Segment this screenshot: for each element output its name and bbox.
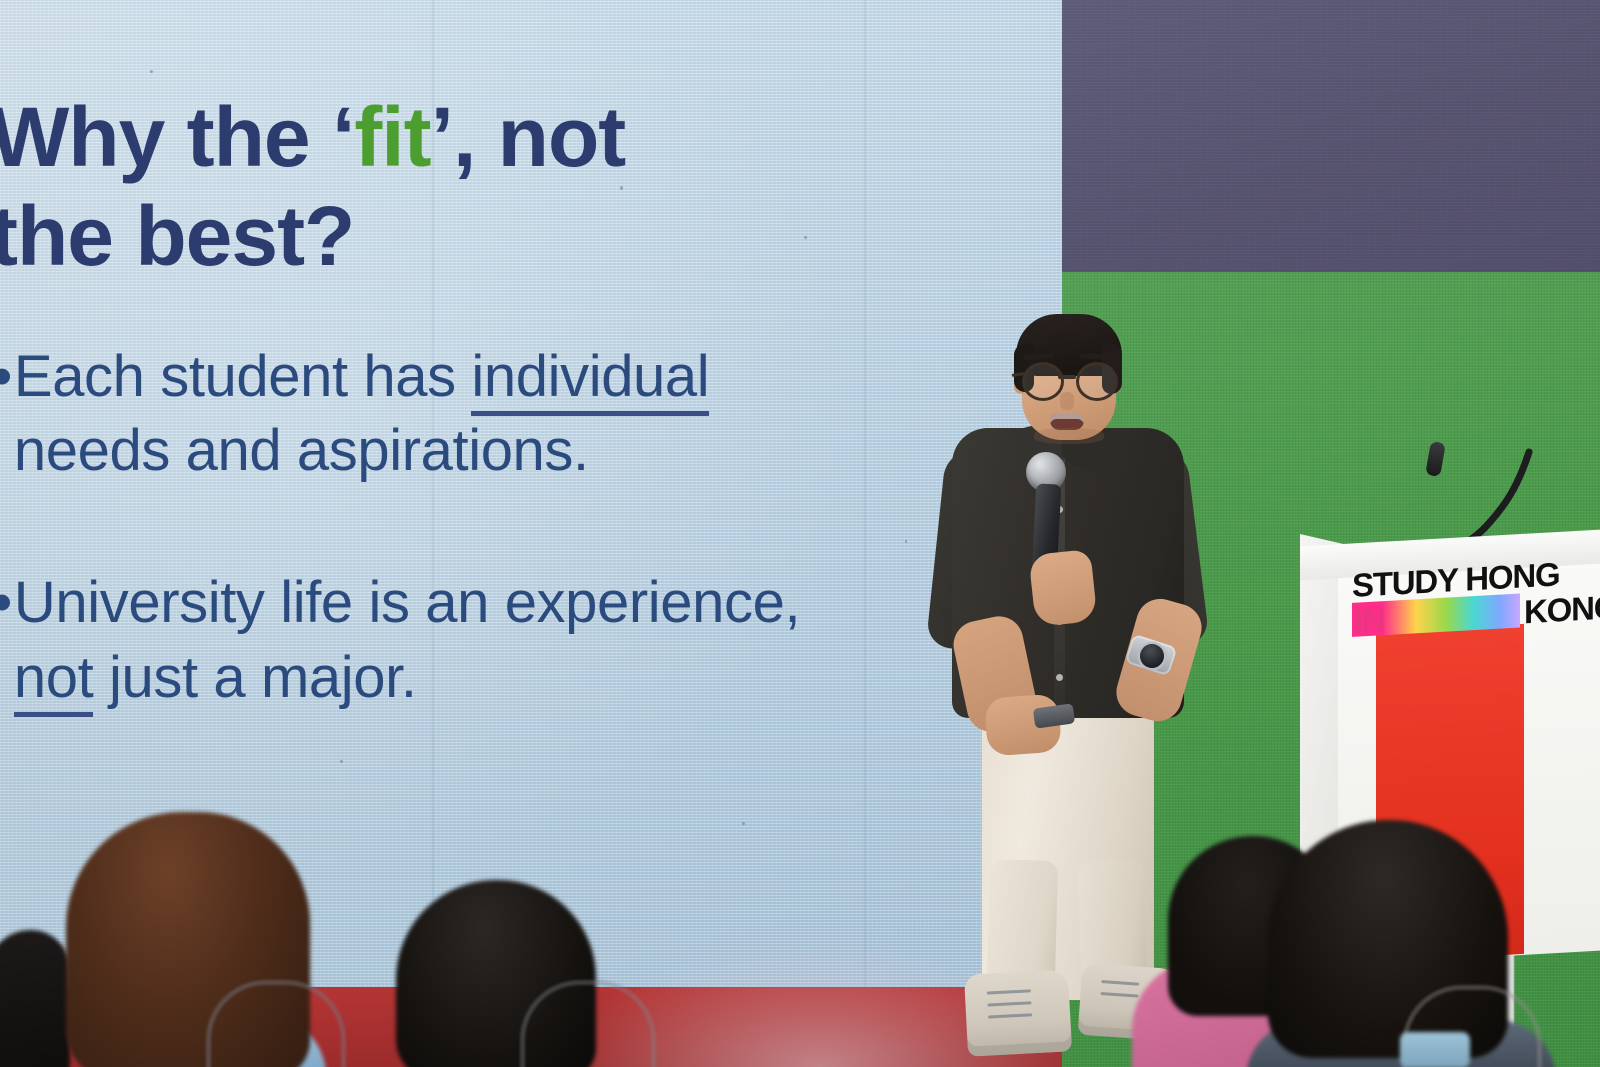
eyeglasses-icon [1018, 362, 1122, 396]
bullet-1-underlined-word: individual [471, 344, 709, 416]
shirt-button [1056, 674, 1063, 681]
shoe-lace [1101, 980, 1139, 986]
bullet-1-second-line: needs and aspirations. [14, 418, 589, 483]
eyeglass-lens-right [1076, 362, 1118, 401]
shoe-lace [1100, 992, 1138, 998]
slide-bullet-item: • University life is an experience, not … [0, 566, 812, 714]
bullet-1-pre: Each student has [14, 344, 472, 409]
bullet-text: University life is an experience, not ju… [14, 566, 812, 714]
slide-title-line-1-post: ’, not [431, 90, 626, 184]
slide-title: Why the ‘fit’, not the best? [0, 88, 690, 286]
slide-title-highlight-word: fit [354, 90, 430, 184]
bullet-2-underlined-word: not [14, 645, 93, 717]
podium-logo-in: IN [1354, 601, 1385, 641]
slide-bullet-item: • Each student has individual needs and … [0, 340, 812, 488]
audience-lanyard [1400, 1032, 1470, 1067]
screen-speck [804, 236, 807, 239]
screen-speck [905, 540, 907, 543]
podium-logo: STUDY HONG IN KONG [1352, 553, 1600, 639]
shoe-lace [988, 1013, 1032, 1018]
bullet-2-second-line-post: just a major. [93, 645, 416, 710]
shoe-lace [987, 989, 1031, 994]
speaker-hand-holding-microphone [1028, 549, 1097, 627]
eyeglass-bridge [1058, 375, 1076, 379]
bullet-text: Each student has individual needs and as… [14, 340, 812, 488]
bullet-2-pre: University life is an experience, [14, 570, 800, 635]
bullet-marker-icon: • [0, 566, 12, 640]
speaker-shoe-left [964, 969, 1072, 1056]
slide-bullet-list: • Each student has individual needs and … [0, 340, 812, 715]
backdrop-upper-panel [1040, 0, 1600, 272]
slide-title-line-1-pre: Why the ‘ [0, 90, 354, 184]
audience-member-far-left [0, 930, 70, 1067]
slide-title-line-1: Why the ‘fit’, not [0, 88, 690, 187]
bullet-marker-icon: • [0, 340, 12, 414]
screen-speck [742, 822, 745, 825]
eyeglass-lens-left [1022, 362, 1064, 401]
shoe-lace [987, 1001, 1031, 1006]
slide-title-line-2: the best? [0, 187, 690, 286]
speaker-chin-shadow [1034, 428, 1104, 444]
screen-speck [340, 760, 343, 763]
speaker-nose [1060, 392, 1074, 410]
podium-logo-kong: KONG [1524, 588, 1600, 631]
screen-speck [150, 70, 153, 73]
presentation-photo: BU Why the ‘fit’, not the best? • Each s… [0, 0, 1600, 1067]
